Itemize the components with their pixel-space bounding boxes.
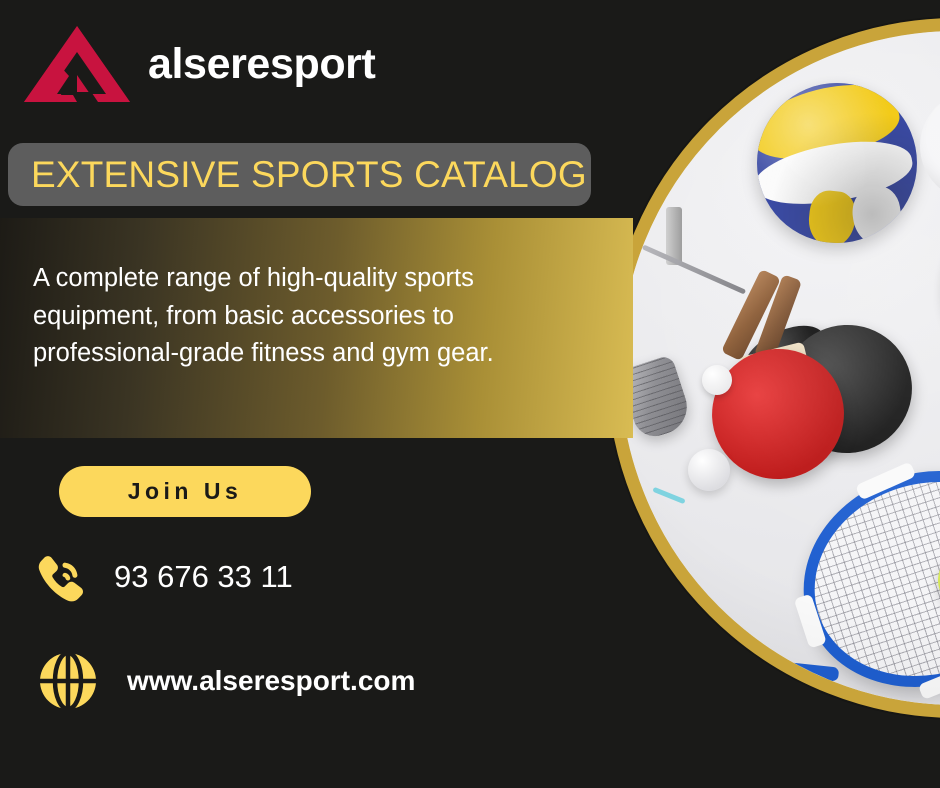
headline-banner: EXTENSIVE SPORTS CATALOG (8, 143, 591, 206)
globe-icon (37, 650, 99, 712)
tennis-racket-image (775, 440, 940, 705)
triangle-a-logo-icon (24, 26, 130, 102)
white-ball-image (920, 91, 940, 201)
promotional-poster: alseresport EXTENSIVE SPORTS CATALOG A c… (0, 0, 940, 788)
join-us-button[interactable]: Join Us (59, 466, 311, 517)
volleyball-image (757, 83, 917, 243)
table-tennis-ball-image (702, 365, 732, 395)
phone-ringing-icon (30, 548, 88, 606)
photo-surface (620, 31, 940, 705)
website-contact-row[interactable]: www.alseresport.com (37, 650, 415, 712)
brand-name: alseresport (148, 43, 375, 86)
golf-tee-image (652, 487, 685, 504)
website-url: www.alseresport.com (127, 665, 415, 697)
golf-club-shaft-image (642, 244, 746, 294)
badminton-racket-image (916, 158, 940, 380)
headline-text: EXTENSIVE SPORTS CATALOG (8, 154, 587, 196)
description-text: A complete range of high-quality sports … (33, 260, 593, 373)
phone-contact-row[interactable]: 93 676 33 11 (30, 548, 293, 606)
brand-logo-row: alseresport (24, 26, 375, 102)
golf-ball-image (688, 449, 730, 491)
sports-photo-circle (607, 18, 940, 718)
phone-number: 93 676 33 11 (114, 559, 293, 595)
